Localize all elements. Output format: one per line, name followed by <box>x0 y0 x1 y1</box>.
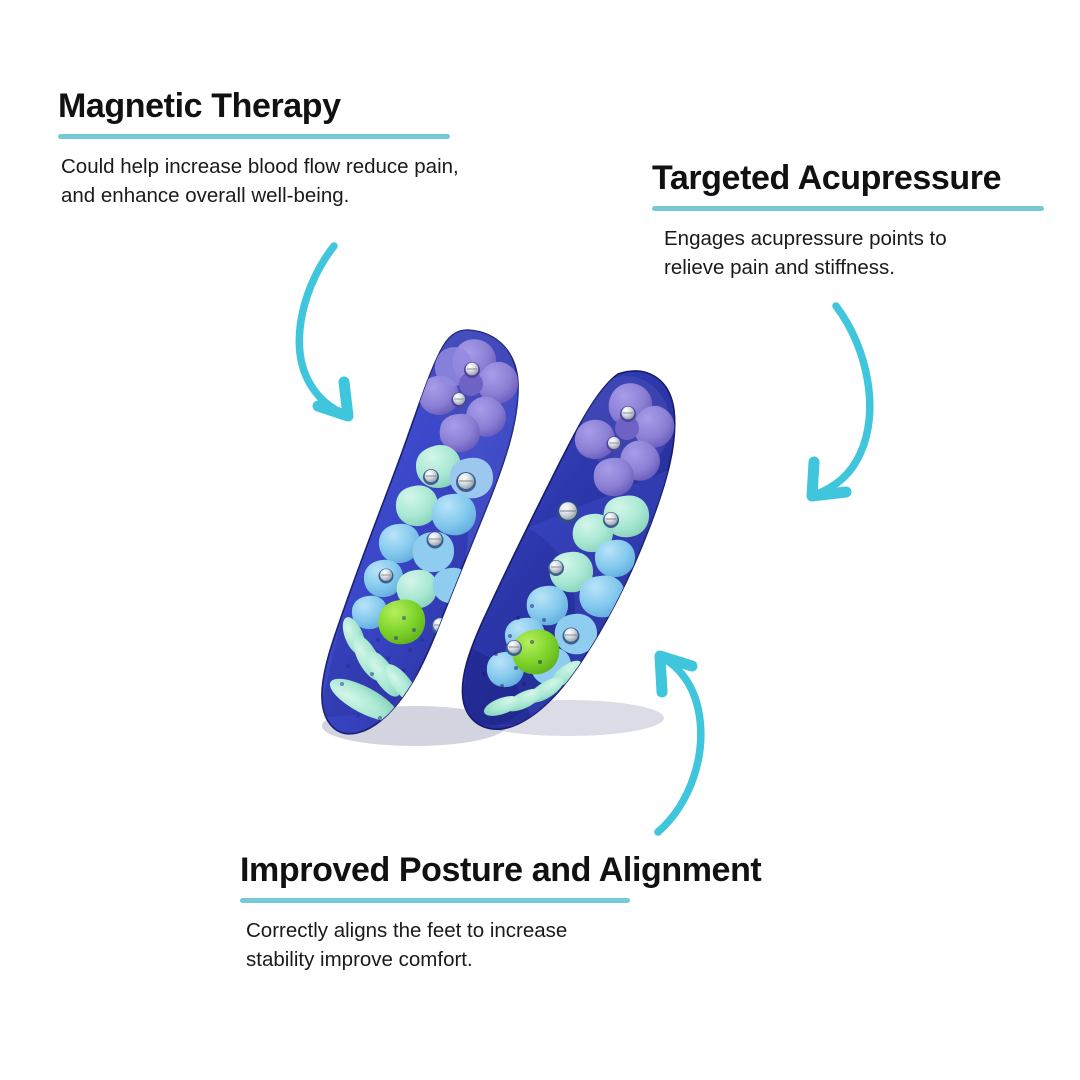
magnet-stud <box>379 569 394 584</box>
feature-description-improved-posture-and-alignment: Correctly aligns the feet to increase st… <box>240 903 840 974</box>
feature-title-magnetic-therapy: Magnetic Therapy <box>58 88 558 125</box>
feature-title-targeted-acupressure: Targeted Acupressure <box>652 160 1052 197</box>
arrow-targeted-acupressure <box>776 296 906 516</box>
arrow-improved-posture <box>616 636 756 846</box>
feature-description-line: relieve pain and stiffness. <box>664 253 1052 282</box>
magnet-stud <box>620 406 636 422</box>
magnet-stud <box>423 469 439 485</box>
magnet-stud <box>456 472 476 492</box>
feature-description-line: stability improve comfort. <box>246 945 840 974</box>
acupressure-node-green <box>378 600 425 645</box>
magnet-stud <box>603 512 619 528</box>
feature-description-targeted-acupressure: Engages acupressure points to relieve pa… <box>652 211 1052 282</box>
feature-block-magnetic-therapy: Magnetic Therapy Could help increase blo… <box>58 88 558 210</box>
magnet-stud <box>548 560 564 576</box>
magnet-stud <box>557 501 579 523</box>
feature-description-line: Could help increase blood flow reduce pa… <box>61 152 558 181</box>
feature-title-improved-posture-and-alignment: Improved Posture and Alignment <box>240 852 840 889</box>
magnet-stud <box>607 437 622 452</box>
arrow-magnetic-therapy <box>286 236 406 426</box>
magnet-stud <box>427 532 444 549</box>
magnet-stud <box>464 362 480 378</box>
feature-description-magnetic-therapy: Could help increase blood flow reduce pa… <box>58 139 558 210</box>
magnet-stud <box>563 628 580 645</box>
feature-description-line: Engages acupressure points to <box>664 224 1052 253</box>
magnet-stud <box>452 393 467 408</box>
magnet-stud <box>506 640 522 656</box>
feature-block-improved-posture-and-alignment: Improved Posture and Alignment Correctly… <box>240 852 840 974</box>
feature-description-line: and enhance overall well-being. <box>61 181 558 210</box>
magnet-stud <box>432 618 449 635</box>
feature-block-targeted-acupressure: Targeted Acupressure Engages acupressure… <box>652 160 1052 282</box>
infographic-canvas: Magnetic Therapy Could help increase blo… <box>0 0 1080 1080</box>
feature-description-line: Correctly aligns the feet to increase <box>246 916 840 945</box>
